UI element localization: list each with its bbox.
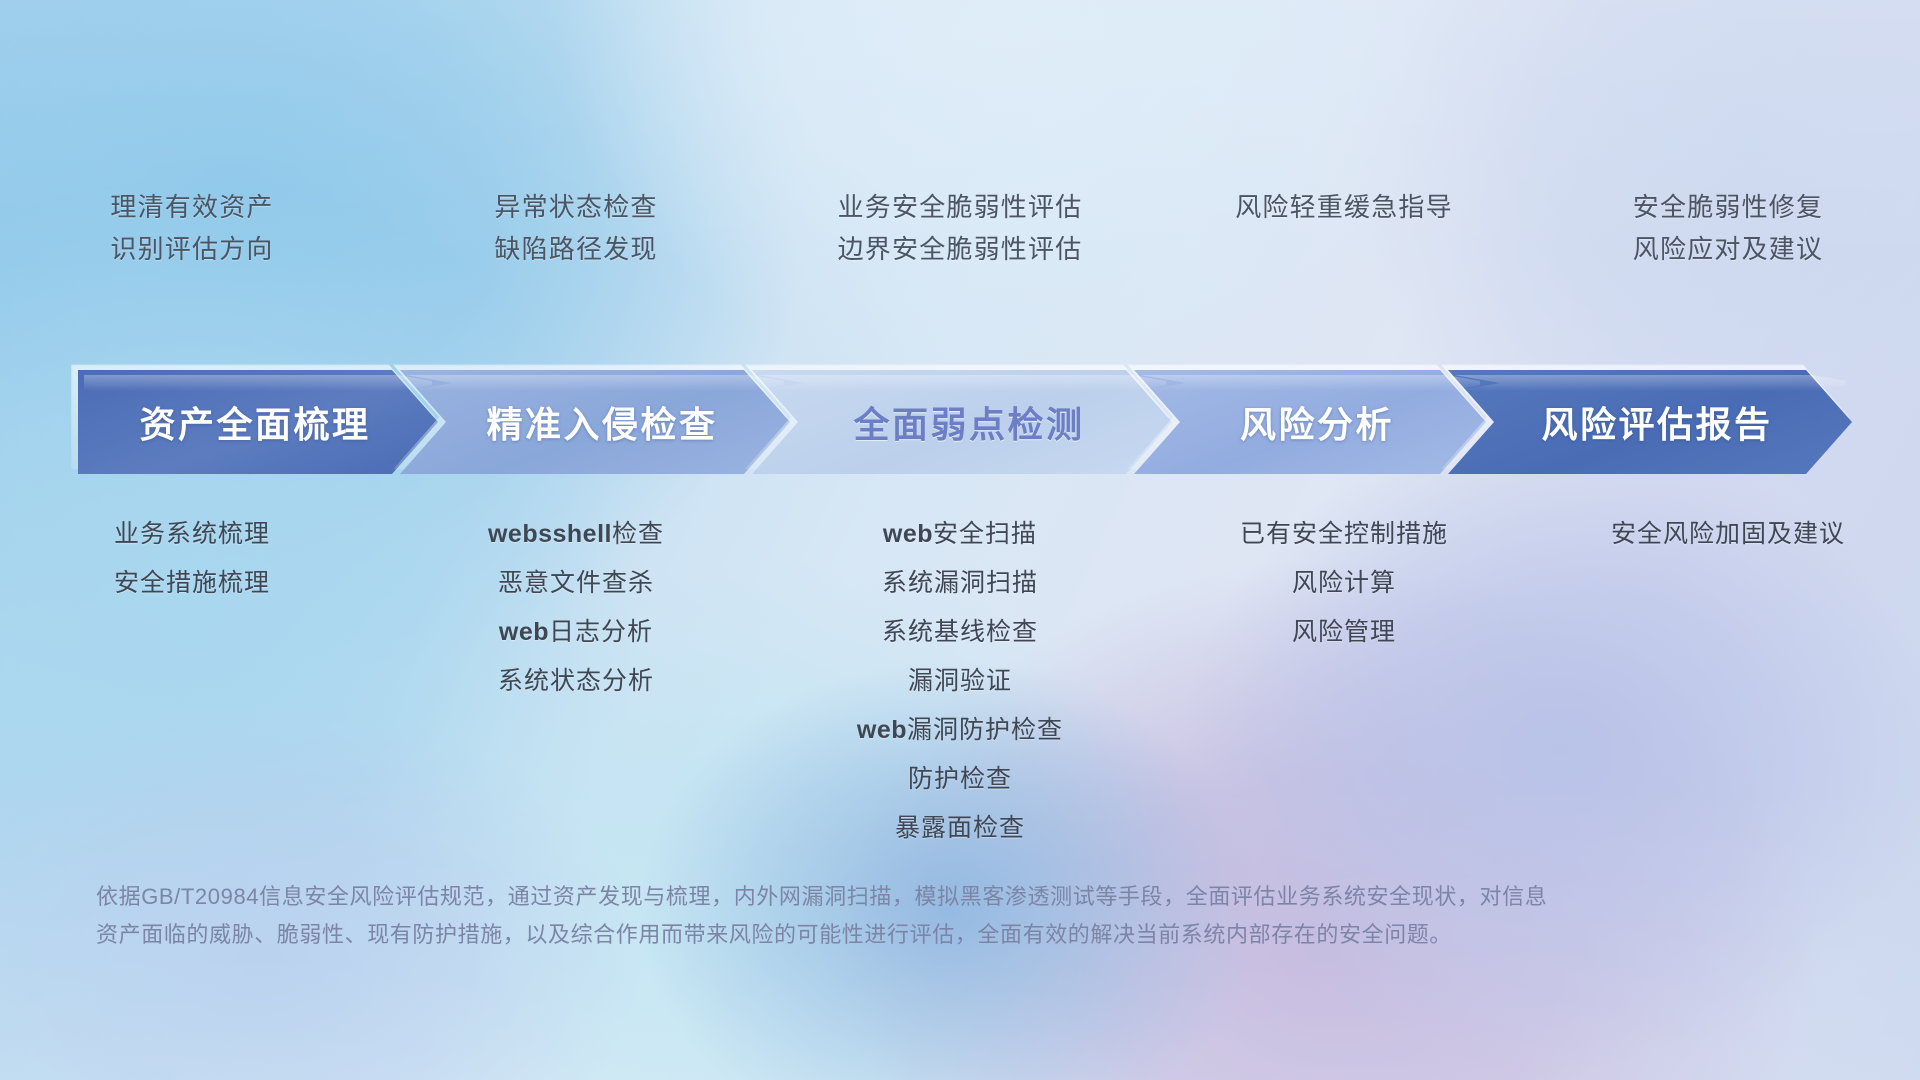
- output-line: web日志分析: [499, 608, 653, 657]
- output-line: 系统基线检查: [882, 608, 1038, 657]
- slide-content: 理清有效资产识别评估方向异常状态检查缺陷路径发现业务安全脆弱性评估边界安全脆弱性…: [0, 0, 1920, 1080]
- process-stage-4[interactable]: 风险分析: [1134, 370, 1486, 474]
- stage-outputs-row: 业务系统梳理安全措施梳理websshell检查恶意文件查杀web日志分析系统状态…: [0, 510, 1920, 853]
- output-line: 系统漏洞扫描: [882, 559, 1038, 608]
- stage-outputs-1: 业务系统梳理安全措施梳理: [0, 510, 384, 608]
- process-stage-2[interactable]: 精准入侵检查: [400, 370, 790, 474]
- input-line: 异常状态检查: [494, 186, 657, 228]
- input-line: 识别评估方向: [110, 228, 273, 270]
- output-line: 安全风险加固及建议: [1611, 510, 1845, 559]
- stage-inputs-2: 异常状态检查缺陷路径发现: [384, 186, 768, 296]
- input-line: 缺陷路径发现: [494, 228, 657, 270]
- output-line: 已有安全控制措施: [1240, 510, 1448, 559]
- output-line: 安全措施梳理: [114, 559, 270, 608]
- stage-inputs-5: 安全脆弱性修复风险应对及建议: [1536, 186, 1920, 296]
- output-line: 风险管理: [1292, 608, 1396, 657]
- input-line: 风险应对及建议: [1633, 228, 1823, 270]
- input-line: 理清有效资产: [110, 186, 273, 228]
- stage-title-5: 风险评估报告: [1541, 396, 1772, 448]
- stage-inputs-1: 理清有效资产识别评估方向: [0, 186, 384, 296]
- output-line: 系统状态分析: [498, 657, 654, 706]
- process-chevron-banner: 资产全面梳理精准入侵检查全面弱点检测风险分析风险评估报告: [78, 370, 1852, 474]
- stage-title-4: 风险分析: [1240, 396, 1394, 448]
- stage-outputs-2: websshell检查恶意文件查杀web日志分析系统状态分析: [384, 510, 768, 706]
- input-line: 风险轻重缓急指导: [1235, 186, 1453, 228]
- stage-inputs-3: 业务安全脆弱性评估边界安全脆弱性评估: [768, 186, 1152, 296]
- output-line: websshell检查: [488, 510, 664, 559]
- stage-outputs-3: web安全扫描系统漏洞扫描系统基线检查漏洞验证web漏洞防护检查防护检查暴露面检…: [768, 510, 1152, 853]
- footer-description: 依据GB/T20984信息安全风险评估规范，通过资产发现与梳理，内外网漏洞扫描，…: [96, 878, 1656, 954]
- process-stage-1[interactable]: 资产全面梳理: [78, 370, 438, 474]
- stage-title-2: 精准入侵检查: [486, 396, 717, 448]
- stage-inputs-row: 理清有效资产识别评估方向异常状态检查缺陷路径发现业务安全脆弱性评估边界安全脆弱性…: [0, 186, 1920, 296]
- input-line: 边界安全脆弱性评估: [838, 228, 1083, 270]
- stage-outputs-5: 安全风险加固及建议: [1536, 510, 1920, 559]
- output-line: 业务系统梳理: [114, 510, 270, 559]
- stage-outputs-4: 已有安全控制措施风险计算风险管理: [1152, 510, 1536, 657]
- input-line: 业务安全脆弱性评估: [838, 186, 1083, 228]
- output-line: 恶意文件查杀: [498, 559, 654, 608]
- output-line: web安全扫描: [883, 510, 1037, 559]
- output-line: web漏洞防护检查: [857, 706, 1063, 755]
- output-line: 漏洞验证: [908, 657, 1012, 706]
- footer-line: 资产面临的威胁、脆弱性、现有防护措施，以及综合作用而带来风险的可能性进行评估，全…: [96, 916, 1656, 954]
- output-line: 风险计算: [1292, 559, 1396, 608]
- process-stage-5[interactable]: 风险评估报告: [1448, 370, 1852, 474]
- stage-title-3: 全面弱点检测: [853, 396, 1084, 448]
- stage-title-1: 资产全面梳理: [139, 396, 370, 448]
- output-line: 暴露面检查: [895, 804, 1025, 853]
- stage-inputs-4: 风险轻重缓急指导: [1152, 186, 1536, 296]
- footer-line: 依据GB/T20984信息安全风险评估规范，通过资产发现与梳理，内外网漏洞扫描，…: [96, 878, 1656, 916]
- output-line: 防护检查: [908, 755, 1012, 804]
- process-stage-3[interactable]: 全面弱点检测: [752, 370, 1172, 474]
- input-line: 安全脆弱性修复: [1633, 186, 1823, 228]
